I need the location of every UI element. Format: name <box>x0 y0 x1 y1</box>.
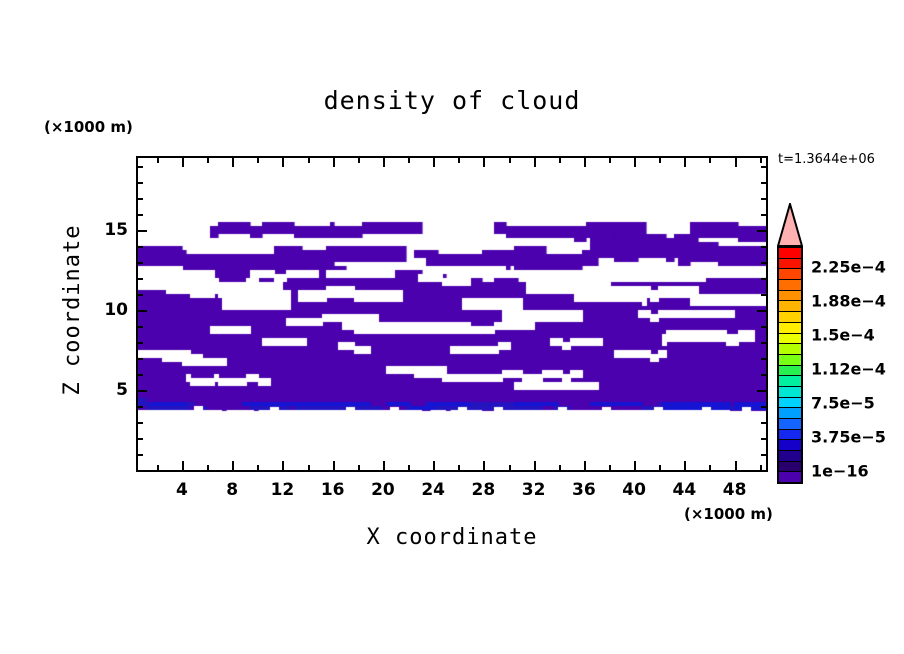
x-tick-label: 4 <box>176 480 188 500</box>
y-tick-minor-right <box>761 278 766 280</box>
x-tick-minor-top <box>308 158 310 163</box>
x-tick-minor <box>408 465 410 470</box>
x-tick-minor <box>308 465 310 470</box>
x-tick-minor <box>760 465 762 470</box>
y-tick-minor-right <box>761 214 766 216</box>
y-tick-minor <box>138 182 143 184</box>
x-tick-minor <box>358 465 360 470</box>
x-tick-major <box>584 461 586 470</box>
x-tick-minor <box>659 465 661 470</box>
x-tick-major-top <box>232 158 234 167</box>
x-tick-label: 40 <box>622 480 646 500</box>
y-tick-minor <box>138 326 143 328</box>
x-tick-minor-top <box>207 158 209 163</box>
colorbar-segment <box>779 408 801 419</box>
x-axis-title: X coordinate <box>0 525 904 550</box>
colorbar-segment <box>779 248 801 259</box>
x-axis-unit-label: (×1000 m) <box>684 505 773 523</box>
x-tick-major <box>735 461 737 470</box>
colorbar-segment <box>779 280 801 291</box>
y-tick-minor <box>138 198 143 200</box>
x-tick-minor-top <box>157 158 159 163</box>
y-tick-minor <box>138 422 143 424</box>
x-tick-major-top <box>735 158 737 167</box>
colorbar-segment <box>779 440 801 451</box>
x-tick-minor-top <box>709 158 711 163</box>
colorbar-segment <box>779 419 801 430</box>
x-tick-minor <box>257 465 259 470</box>
colorbar-segment <box>779 398 801 409</box>
x-tick-major <box>282 461 284 470</box>
y-tick-major <box>138 230 147 232</box>
y-tick-minor-right <box>761 246 766 248</box>
x-tick-label: 12 <box>271 480 295 500</box>
colorbar-tick-label: 7.5e−5 <box>811 394 875 413</box>
x-tick-major <box>634 461 636 470</box>
y-tick-label: 10 <box>88 300 128 320</box>
x-tick-minor <box>207 465 209 470</box>
x-tick-minor-top <box>458 158 460 163</box>
x-tick-major <box>433 461 435 470</box>
y-tick-minor <box>138 358 143 360</box>
x-tick-label: 32 <box>522 480 546 500</box>
y-tick-minor <box>138 374 143 376</box>
x-tick-minor <box>458 465 460 470</box>
x-tick-major <box>684 461 686 470</box>
colorbar-tick-label: 2.25e−4 <box>811 258 886 277</box>
y-tick-minor <box>138 438 143 440</box>
colorbar-segment <box>779 430 801 441</box>
x-tick-major <box>333 461 335 470</box>
y-tick-major-right <box>757 230 766 232</box>
x-tick-minor <box>609 465 611 470</box>
y-tick-minor-right <box>761 438 766 440</box>
y-tick-minor <box>138 214 143 216</box>
x-tick-major-top <box>182 158 184 167</box>
x-tick-label: 36 <box>572 480 596 500</box>
x-tick-label: 48 <box>723 480 747 500</box>
x-tick-minor <box>157 465 159 470</box>
colorbar-segment <box>779 312 801 323</box>
colorbar-segment <box>779 323 801 334</box>
y-tick-major-right <box>757 310 766 312</box>
y-tick-label: 5 <box>88 380 128 400</box>
x-tick-major-top <box>483 158 485 167</box>
y-tick-minor-right <box>761 294 766 296</box>
x-tick-label: 16 <box>321 480 345 500</box>
x-tick-major <box>383 461 385 470</box>
x-tick-minor-top <box>559 158 561 163</box>
colorbar-over-arrow-icon <box>777 203 803 247</box>
x-tick-major <box>534 461 536 470</box>
colorbar-segment <box>779 291 801 302</box>
y-tick-minor <box>138 342 143 344</box>
x-tick-minor <box>509 465 511 470</box>
colorbar-tick-label: 1.12e−4 <box>811 360 886 379</box>
x-tick-major-top <box>333 158 335 167</box>
x-tick-minor-top <box>358 158 360 163</box>
page-title: density of cloud <box>0 86 904 115</box>
y-tick-minor-right <box>761 406 766 408</box>
y-tick-minor-right <box>761 166 766 168</box>
x-tick-major-top <box>584 158 586 167</box>
x-tick-major <box>232 461 234 470</box>
x-tick-minor-top <box>659 158 661 163</box>
colorbar-gradient <box>777 246 803 484</box>
y-tick-minor <box>138 406 143 408</box>
colorbar-segment <box>779 387 801 398</box>
colorbar-segment <box>779 344 801 355</box>
x-tick-major-top <box>634 158 636 167</box>
y-tick-minor <box>138 246 143 248</box>
y-tick-minor-right <box>761 262 766 264</box>
y-tick-minor <box>138 166 143 168</box>
x-tick-major-top <box>383 158 385 167</box>
x-tick-minor <box>559 465 561 470</box>
timestamp-label: t=1.3644e+06 <box>778 152 875 167</box>
figure-canvas: density of cloud (×1000 m) (×1000 m) X c… <box>0 0 904 654</box>
colorbar-tick-label: 1e−16 <box>811 462 869 481</box>
x-tick-major <box>483 461 485 470</box>
y-tick-major-right <box>757 390 766 392</box>
plot-area <box>136 156 768 472</box>
y-tick-major <box>138 390 147 392</box>
colorbar-segment <box>779 451 801 462</box>
y-tick-minor-right <box>761 422 766 424</box>
x-tick-major-top <box>534 158 536 167</box>
x-tick-minor-top <box>509 158 511 163</box>
y-tick-minor-right <box>761 454 766 456</box>
x-tick-label: 8 <box>226 480 238 500</box>
colorbar-segment <box>779 472 801 482</box>
colorbar-segment <box>779 462 801 473</box>
contour-field <box>138 158 766 470</box>
colorbar-tick-label: 1.5e−4 <box>811 326 875 345</box>
x-tick-major <box>182 461 184 470</box>
colorbar-segment <box>779 301 801 312</box>
y-tick-minor <box>138 262 143 264</box>
x-tick-label: 20 <box>371 480 395 500</box>
y-tick-minor-right <box>761 342 766 344</box>
y-tick-minor <box>138 454 143 456</box>
x-tick-minor-top <box>257 158 259 163</box>
x-tick-label: 24 <box>421 480 445 500</box>
x-tick-minor-top <box>408 158 410 163</box>
x-tick-major-top <box>282 158 284 167</box>
y-tick-minor-right <box>761 198 766 200</box>
colorbar-segment <box>779 259 801 270</box>
colorbar-tick-label: 3.75e−5 <box>811 428 886 447</box>
x-tick-label: 44 <box>673 480 697 500</box>
y-tick-minor-right <box>761 326 766 328</box>
x-tick-major-top <box>433 158 435 167</box>
y-axis-title: Z coordinate <box>60 210 85 410</box>
colorbar-segment <box>779 366 801 377</box>
x-tick-label: 28 <box>472 480 496 500</box>
colorbar-segment <box>779 376 801 387</box>
colorbar-segment <box>779 334 801 345</box>
y-tick-minor-right <box>761 374 766 376</box>
y-tick-minor-right <box>761 182 766 184</box>
colorbar-segment <box>779 355 801 366</box>
colorbar: 2.25e−41.88e−41.5e−41.12e−47.5e−53.75e−5… <box>777 203 897 485</box>
y-tick-major <box>138 310 147 312</box>
y-tick-minor-right <box>761 358 766 360</box>
y-axis-unit-label: (×1000 m) <box>44 118 133 136</box>
y-tick-label: 15 <box>88 220 128 240</box>
y-tick-minor <box>138 294 143 296</box>
y-tick-minor <box>138 278 143 280</box>
x-tick-minor-top <box>609 158 611 163</box>
colorbar-tick-label: 1.88e−4 <box>811 292 886 311</box>
x-tick-minor-top <box>760 158 762 163</box>
colorbar-segment <box>779 269 801 280</box>
x-tick-major-top <box>684 158 686 167</box>
x-tick-minor <box>709 465 711 470</box>
